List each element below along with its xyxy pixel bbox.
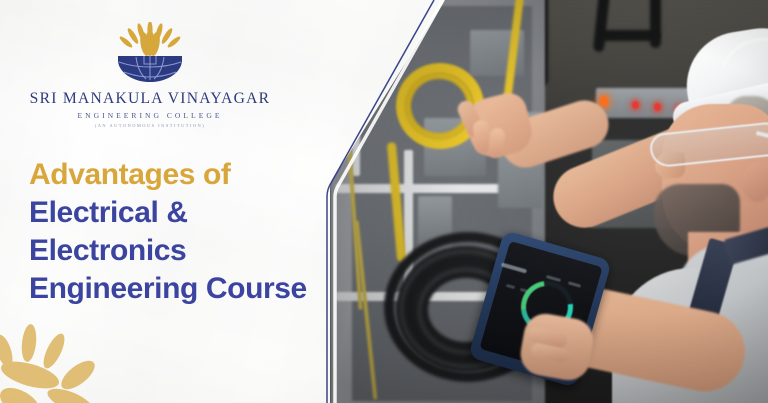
status-led xyxy=(632,101,639,109)
status-led xyxy=(600,96,608,107)
conduit-pipe xyxy=(650,0,661,48)
photo-scene xyxy=(0,0,768,403)
status-led xyxy=(654,103,661,111)
course-promo-banner: SRI MANAKULA VINAYAGAR ENGINEERING COLLE… xyxy=(0,0,768,403)
ear xyxy=(742,162,768,202)
yellow-wire xyxy=(381,20,404,77)
hero-photo-panel xyxy=(0,0,768,403)
mounting-rail xyxy=(352,36,360,176)
